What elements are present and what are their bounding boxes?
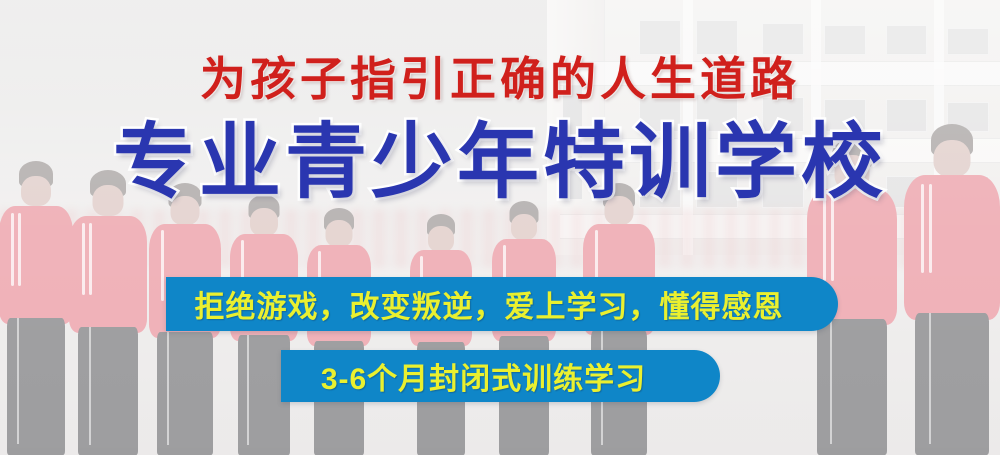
highlight-bar-secondary-text: 3-6个月封闭式训练学习 <box>281 354 720 398</box>
promo-banner-poster: 为孩子指引正确的人生道路 专业青少年特训学校 拒绝游戏，改变叛逆，爱上学习，懂得… <box>0 0 1000 455</box>
highlight-bar-primary-text: 拒绝游戏，改变叛逆，爱上学习，懂得感恩 <box>166 282 838 326</box>
highlight-bar-secondary: 3-6个月封闭式训练学习 <box>281 350 720 402</box>
poster-headline: 专业青少年特训学校 <box>0 122 1000 204</box>
poster-subheadline: 为孩子指引正确的人生道路 <box>0 56 1000 102</box>
highlight-bar-primary: 拒绝游戏，改变叛逆，爱上学习，懂得感恩 <box>166 277 838 331</box>
poster-content: 为孩子指引正确的人生道路 专业青少年特训学校 拒绝游戏，改变叛逆，爱上学习，懂得… <box>0 0 1000 455</box>
